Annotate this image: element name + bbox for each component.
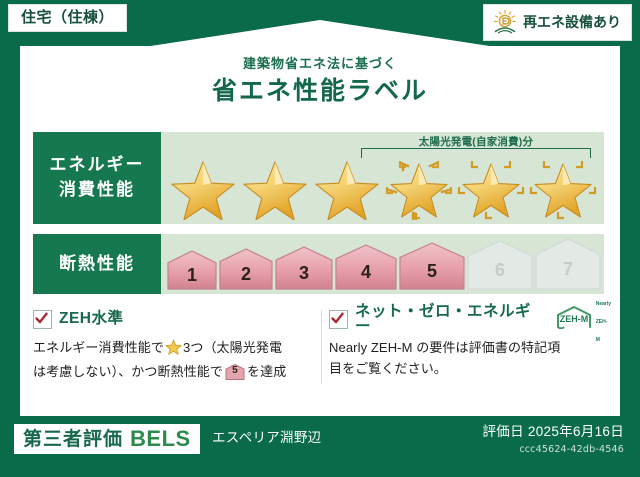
energy-consumption-label: エネルギー 消費性能 [33,132,161,224]
page-title: 建築物省エネ法に基づく 省エネ性能ラベル [20,56,620,106]
energy-label-line2: 消費性能 [59,178,135,203]
note-nze-header: ネット・ゼロ・エネルギー ZEH-M Nearly ZEH-M [329,308,611,330]
note-zeh-standard: ZEH水準 エネルギー消費性能で3つ（太陽光発電 は考慮しない）、かつ断熱性能で… [33,308,315,382]
energy-consumption-row: エネルギー 消費性能 太陽光発電(自家消費)分 [33,132,604,224]
insulation-level-scale: 1234567 [167,238,601,290]
star-rating [167,150,601,220]
insulation-level-6: 6 [467,240,533,290]
insulation-level-7: 7 [535,238,601,290]
insulation-level-4: 4 [335,244,397,290]
star-solar [527,150,599,220]
insulation-level-3: 3 [275,246,333,290]
label-body-panel: 建築物省エネ法に基づく 省エネ性能ラベル エネルギー 消費性能 太陽光発電(自家… [20,46,620,416]
sun-renewable-icon [492,9,518,35]
bels-mark: BELS [130,428,191,450]
insulation-level-number: 1 [187,256,197,284]
insulation-performance-label: 断熱性能 [33,234,161,294]
zeh-m-house-icon: ZEH-M [554,305,594,334]
insulation-rating-panel: 1234567 [161,234,604,294]
inline-house-badge: 5 [225,364,245,380]
insulation-level-number: 7 [563,250,573,278]
note-nze-body-line1: Nearly ZEH-M の要件は評価書の特記項 [329,340,560,355]
note-nze-body-line2: 目をご覧ください。 [329,361,447,376]
renewable-energy-badge-label: 再エネ設備あり [523,15,621,29]
insulation-performance-row: 断熱性能 1234567 [33,234,604,294]
evaluation-id: ccc45624-42db-4546 [519,445,624,455]
note-net-zero-energy: ネット・ゼロ・エネルギー ZEH-M Nearly ZEH-M [329,308,611,382]
title-subtitle: 建築物省エネ法に基づく [20,56,620,72]
insulation-level-number: 6 [495,251,505,279]
energy-performance-label: 住宅（住棟） 再エネ設備あり [0,0,640,477]
house-type-badge: 住宅（住棟） [8,4,127,32]
footer-band: 第三者評価 BELS エスペリア淵野辺 評価日 2025年6月16日 ccc45… [0,416,640,477]
insulation-level-1: 1 [167,250,217,290]
energy-rating-panel: 太陽光発電(自家消費)分 [161,132,604,224]
insulation-level-2: 2 [219,248,273,290]
note-zeh-body-part3: は考慮しない）、かつ断熱性能で [33,364,223,379]
note-zeh-body: エネルギー消費性能で3つ（太陽光発電 は考慮しない）、かつ断熱性能で5を達成 [33,337,315,382]
zeh-m-sub-line2: ZEH-M [596,319,608,343]
insulation-level-number: 2 [241,255,251,283]
checkbox-checked-icon [329,310,348,329]
insulation-level-number: 5 [427,252,437,280]
inline-house-number: 5 [225,366,245,376]
checkbox-checked-icon [33,310,52,329]
notes-divider [321,310,322,384]
zeh-m-logo: ZEH-M Nearly ZEH-M [554,292,611,346]
renewable-energy-badge: 再エネ設備あり [483,4,632,41]
insulation-label-text: 断熱性能 [59,252,135,277]
bels-third-party-label: 第三者評価 [23,430,123,449]
star-solar [383,150,455,220]
note-zeh-body-part1: エネルギー消費性能で [33,340,164,355]
note-nze-title: ネット・ゼロ・エネルギー [355,304,543,335]
note-zeh-body-part4: を達成 [247,364,286,379]
star-filled [311,150,383,220]
insulation-level-number: 4 [361,253,371,281]
zeh-m-sub-label: Nearly ZEH-M [596,292,611,346]
star-filled [167,150,239,220]
energy-label-line1: エネルギー [50,153,145,178]
inline-star-icon [165,339,182,361]
insulation-level-5: 5 [399,242,465,290]
star-filled [239,150,311,220]
house-type-badge-label: 住宅（住棟） [21,9,114,26]
svg-text:ZEH-M: ZEH-M [559,314,588,324]
bels-badge: 第三者評価 BELS [14,424,200,454]
star-solar [455,150,527,220]
note-zeh-body-part2: 3つ（太陽光発電 [183,340,282,355]
notes-section: ZEH水準 エネルギー消費性能で3つ（太陽光発電 は考慮しない）、かつ断熱性能で… [33,308,611,382]
title-main: 省エネ性能ラベル [20,76,620,106]
evaluation-date: 評価日 2025年6月16日 [482,425,624,439]
solar-caption: 太陽光発電(自家消費)分 [359,134,593,149]
building-name: エスペリア淵野辺 [212,431,321,445]
zeh-m-sub-line1: Nearly [596,301,611,307]
note-zeh-title: ZEH水準 [59,311,124,327]
note-zeh-header: ZEH水準 [33,308,315,330]
insulation-level-number: 3 [299,254,309,282]
